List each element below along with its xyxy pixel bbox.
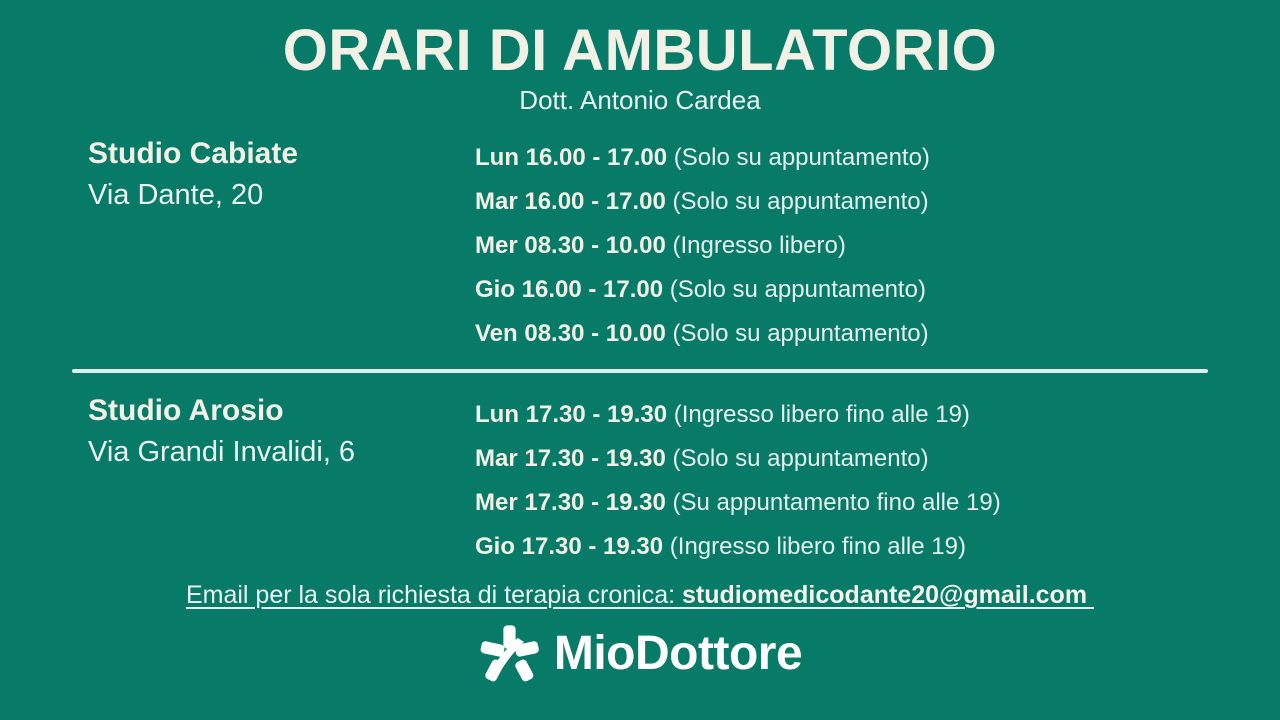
studio-name: Studio Cabiate	[88, 136, 440, 173]
email-label: Email per la sola richiesta di terapia c…	[186, 581, 682, 609]
hours-note: (Solo su appuntamento)	[672, 188, 928, 215]
hours-row: Gio 17.30 - 19.30 (Ingresso libero fino …	[475, 525, 1280, 569]
page-title: ORARI DI AMBULATORIO	[0, 20, 1280, 81]
hours-row: Gio 16.00 - 17.00 (Solo su appuntamento)	[475, 268, 1280, 312]
hours-slot: Mar 16.00 - 17.00	[475, 188, 666, 215]
studio-address: Via Grandi Invalidi, 6	[88, 434, 440, 472]
hours-slot: Lun 17.30 - 19.30	[475, 401, 667, 428]
hours-row: Ven 08.30 - 10.00 (Solo su appuntamento)	[475, 312, 1280, 356]
miodottore-logo: MioDottore	[0, 623, 1280, 685]
hours-slot: Mer 08.30 - 10.00	[475, 232, 666, 259]
hours-row: Lun 16.00 - 17.00 (Solo su appuntamento)	[475, 136, 1280, 180]
studio-address: Via Dante, 20	[88, 177, 440, 215]
poster: ORARI DI AMBULATORIO Dott. Antonio Carde…	[0, 0, 1280, 720]
hours-note: (Ingresso libero)	[672, 232, 845, 259]
hours-row: Mar 17.30 - 19.30 (Solo su appuntamento)	[475, 437, 1280, 481]
asterisk-star-icon	[478, 623, 540, 685]
hours-note: (Ingresso libero fino alle 19)	[670, 533, 966, 560]
hours-note: (Solo su appuntamento)	[672, 445, 928, 472]
hours-note: (Solo su appuntamento)	[672, 320, 928, 347]
hours-row: Lun 17.30 - 19.30 (Ingresso libero fino …	[475, 393, 1280, 437]
email-line: Email per la sola richiesta di terapia c…	[0, 578, 1280, 612]
hours-list-arosio: Lun 17.30 - 19.30 (Ingresso libero fino …	[440, 393, 1280, 569]
hours-note: (Su appuntamento fino alle 19)	[672, 489, 1000, 516]
hours-row: Mer 08.30 - 10.00 (Ingresso libero)	[475, 224, 1280, 268]
studio-section-cabiate: Studio Cabiate Via Dante, 20 Lun 16.00 -…	[0, 136, 1280, 356]
hours-slot: Ven 08.30 - 10.00	[475, 320, 666, 347]
hours-note: (Ingresso libero fino alle 19)	[674, 401, 970, 428]
hours-note: (Solo su appuntamento)	[674, 144, 930, 171]
studio-info-cabiate: Studio Cabiate Via Dante, 20	[0, 136, 440, 214]
hours-slot: Mer 17.30 - 19.30	[475, 489, 666, 516]
header: ORARI DI AMBULATORIO Dott. Antonio Carde…	[0, 0, 1280, 117]
hours-slot: Gio 17.30 - 19.30	[475, 533, 663, 560]
hours-row: Mer 17.30 - 19.30 (Su appuntamento fino …	[475, 481, 1280, 525]
hours-list-cabiate: Lun 16.00 - 17.00 (Solo su appuntamento)…	[440, 136, 1280, 356]
hours-slot: Gio 16.00 - 17.00	[475, 276, 663, 303]
section-divider	[72, 369, 1208, 373]
hours-note: (Solo su appuntamento)	[670, 276, 926, 303]
doctor-name: Dott. Antonio Cardea	[0, 85, 1280, 116]
email-trailing-space	[1087, 581, 1094, 609]
hours-row: Mar 16.00 - 17.00 (Solo su appuntamento)	[475, 180, 1280, 224]
logo-wordmark: MioDottore	[554, 630, 802, 678]
email-address[interactable]: studiomedicodante20@gmail.com	[682, 581, 1087, 609]
studio-name: Studio Arosio	[88, 393, 440, 430]
hours-slot: Lun 16.00 - 17.00	[475, 144, 667, 171]
studio-info-arosio: Studio Arosio Via Grandi Invalidi, 6	[0, 393, 440, 471]
hours-slot: Mar 17.30 - 19.30	[475, 445, 666, 472]
studio-section-arosio: Studio Arosio Via Grandi Invalidi, 6 Lun…	[0, 393, 1280, 569]
